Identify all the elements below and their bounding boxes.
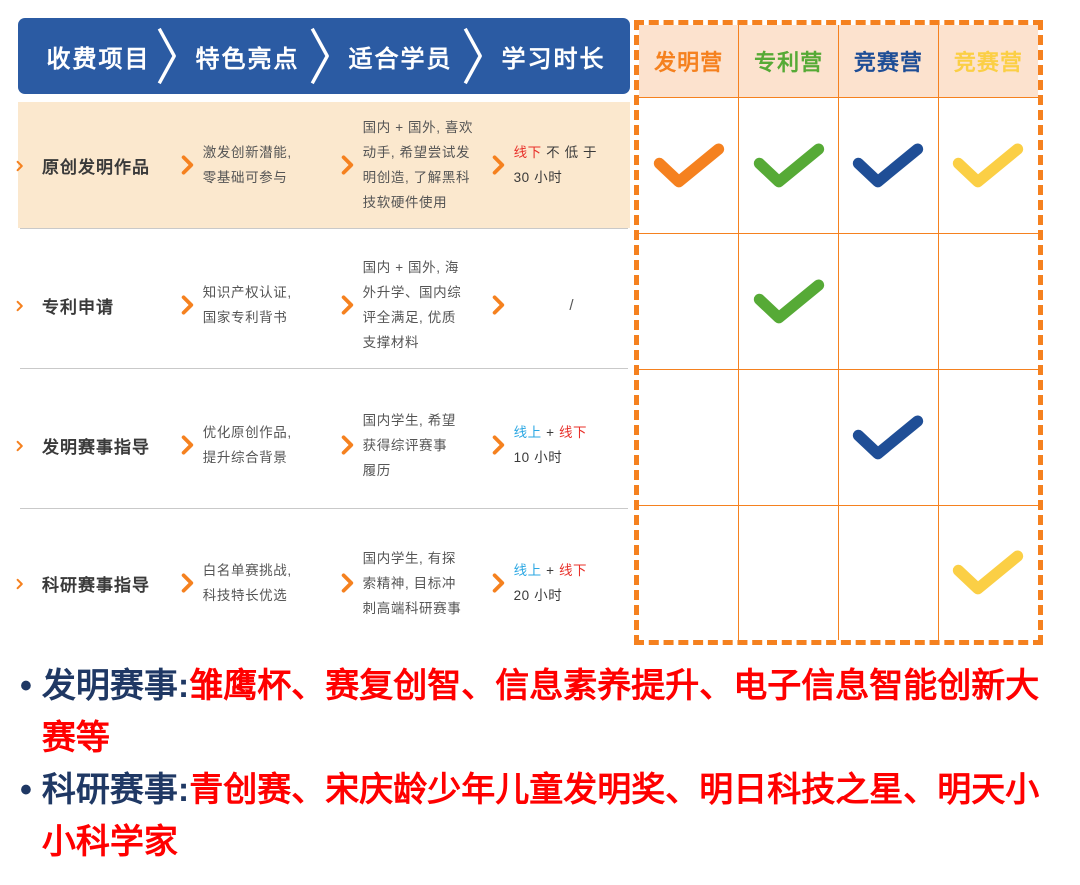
header-cell-4: 学习时长 — [477, 18, 630, 94]
camp-comparison-panel: 发明营专利营竞赛营竞赛营 — [634, 20, 1043, 645]
table-row[interactable]: 科研赛事指导白名单赛挑战,科技特长优选国内学生, 有探索精神, 目标冲刺高端科研… — [18, 520, 630, 646]
separator-arrow-icon — [333, 572, 363, 594]
cell-duration: 线上 + 线下20 小时 — [514, 520, 630, 646]
duration-mode: 线下 不 低 于 — [514, 140, 598, 165]
cell-audience: 国内学生, 希望获得综评赛事履历 — [363, 380, 484, 510]
camp-column-label: 竞赛营 — [854, 50, 923, 75]
camp-cell-checked[interactable] — [938, 505, 1038, 640]
camp-cell-checked[interactable] — [739, 98, 839, 234]
camp-cell-empty[interactable] — [639, 505, 739, 640]
camp-cell-checked[interactable] — [639, 98, 739, 234]
cell-item-name: 原创发明作品 — [18, 102, 173, 228]
header-cell-2: 特色亮点 — [171, 18, 324, 94]
camp-column-header-2: 专利营 — [739, 25, 839, 98]
camp-row — [639, 98, 1038, 234]
row-lead-arrow-icon — [14, 439, 26, 451]
camp-cell-checked[interactable] — [839, 369, 939, 505]
bullet-label: 发明赛事: — [42, 667, 189, 705]
cell-feature: 激发创新潜能,零基础可参与 — [203, 102, 333, 228]
camp-row — [639, 369, 1038, 505]
header-label: 适合学员 — [349, 39, 453, 74]
camp-column-label: 发明营 — [654, 50, 723, 75]
duration-hours: / — [569, 293, 574, 318]
separator-arrow-icon — [484, 294, 514, 316]
cell-item-name: 专利申请 — [18, 240, 173, 370]
cell-audience: 国内 + 国外, 喜欢动手, 希望尝试发明创造, 了解黑科技软硬件使用 — [363, 102, 484, 228]
row-separator — [20, 368, 628, 369]
table-header-chevrons: 收费项目特色亮点适合学员学习时长 — [18, 18, 630, 94]
bullet-marker: • — [20, 764, 32, 816]
header-label: 收费项目 — [47, 39, 151, 74]
row-separator — [20, 228, 628, 229]
camp-cell-empty[interactable] — [639, 233, 739, 369]
separator-arrow-icon — [484, 154, 514, 176]
camp-cell-empty[interactable] — [938, 233, 1038, 369]
cell-audience: 国内 + 国外, 海外升学、国内综评全满足, 优质支撑材料 — [363, 240, 484, 370]
camp-column-header-3: 竞赛营 — [839, 25, 939, 98]
list-item: •科研赛事:青创赛、宋庆龄少年儿童发明奖、明日科技之星、明天小小科学家 — [20, 764, 1065, 868]
bullet-marker: • — [20, 660, 32, 712]
bullet-value: 青创赛、宋庆龄少年儿童发明奖、明日科技之星、明天小小科学家 — [42, 771, 1039, 861]
row-separator — [20, 508, 628, 509]
cell-item-name: 科研赛事指导 — [18, 520, 173, 646]
competition-notes: •发明赛事:雏鹰杯、赛复创智、信息素养提升、电子信息智能创新大赛等•科研赛事:青… — [20, 660, 1065, 868]
header-label: 特色亮点 — [196, 39, 300, 74]
table-row[interactable]: 专利申请知识产权认证,国家专利背书国内 + 国外, 海外升学、国内综评全满足, … — [18, 240, 630, 370]
row-lead-arrow-icon — [14, 299, 26, 311]
cell-item-name: 发明赛事指导 — [18, 380, 173, 510]
cell-feature: 知识产权认证,国家专利背书 — [203, 240, 333, 370]
camp-column-header-4: 竞赛营 — [938, 25, 1038, 98]
separator-arrow-icon — [484, 434, 514, 456]
camp-cell-empty[interactable] — [739, 369, 839, 505]
cell-duration: 线下 不 低 于30 小时 — [514, 102, 630, 228]
bullet-value: 雏鹰杯、赛复创智、信息素养提升、电子信息智能创新大赛等 — [42, 667, 1039, 757]
bullet-label: 科研赛事: — [42, 771, 189, 809]
camp-row — [639, 233, 1038, 369]
separator-arrow-icon — [484, 572, 514, 594]
separator-arrow-icon — [173, 572, 203, 594]
separator-arrow-icon — [333, 294, 363, 316]
row-lead-arrow-icon — [14, 577, 26, 589]
separator-arrow-icon — [173, 294, 203, 316]
pricing-table: 收费项目特色亮点适合学员学习时长 原创发明作品激发创新潜能,零基础可参与国内 +… — [18, 18, 630, 646]
cell-duration: / — [514, 240, 630, 370]
cell-feature: 白名单赛挑战,科技特长优选 — [203, 520, 333, 646]
camp-column-header-1: 发明营 — [639, 25, 739, 98]
cell-audience: 国内学生, 有探索精神, 目标冲刺高端科研赛事 — [363, 520, 484, 646]
duration-mode: 线上 + 线下 — [514, 558, 588, 583]
camp-cell-empty[interactable] — [839, 233, 939, 369]
table-row[interactable]: 原创发明作品激发创新潜能,零基础可参与国内 + 国外, 喜欢动手, 希望尝试发明… — [18, 102, 630, 228]
header-label: 学习时长 — [502, 39, 606, 74]
camp-cell-checked[interactable] — [739, 233, 839, 369]
camp-row — [639, 505, 1038, 640]
camp-header-row: 发明营专利营竞赛营竞赛营 — [639, 25, 1038, 98]
separator-arrow-icon — [333, 434, 363, 456]
cell-feature: 优化原创作品,提升综合背景 — [203, 380, 333, 510]
separator-arrow-icon — [333, 154, 363, 176]
bullet-text: 发明赛事:雏鹰杯、赛复创智、信息素养提升、电子信息智能创新大赛等 — [42, 660, 1065, 764]
list-item: •发明赛事:雏鹰杯、赛复创智、信息素养提升、电子信息智能创新大赛等 — [20, 660, 1065, 764]
row-lead-arrow-icon — [14, 159, 26, 171]
separator-arrow-icon — [173, 434, 203, 456]
camp-cell-checked[interactable] — [938, 98, 1038, 234]
camp-column-label: 专利营 — [754, 50, 823, 75]
camp-cell-empty[interactable] — [739, 505, 839, 640]
header-cell-3: 适合学员 — [324, 18, 477, 94]
camp-column-label: 竞赛营 — [954, 50, 1023, 75]
duration-mode: 线上 + 线下 — [514, 420, 588, 445]
duration-hours: 30 小时 — [514, 165, 598, 190]
camp-cell-empty[interactable] — [639, 369, 739, 505]
duration-hours: 10 小时 — [514, 445, 588, 470]
camp-cell-checked[interactable] — [839, 98, 939, 234]
table-row[interactable]: 发明赛事指导优化原创作品,提升综合背景国内学生, 希望获得综评赛事履历线上 + … — [18, 380, 630, 510]
camp-cell-empty[interactable] — [938, 369, 1038, 505]
cell-duration: 线上 + 线下10 小时 — [514, 380, 630, 510]
camp-cell-empty[interactable] — [839, 505, 939, 640]
bullet-text: 科研赛事:青创赛、宋庆龄少年儿童发明奖、明日科技之星、明天小小科学家 — [42, 764, 1065, 868]
camp-comparison-table: 发明营专利营竞赛营竞赛营 — [639, 25, 1038, 640]
separator-arrow-icon — [173, 154, 203, 176]
duration-hours: 20 小时 — [514, 583, 588, 608]
header-cell-1: 收费项目 — [18, 18, 175, 94]
